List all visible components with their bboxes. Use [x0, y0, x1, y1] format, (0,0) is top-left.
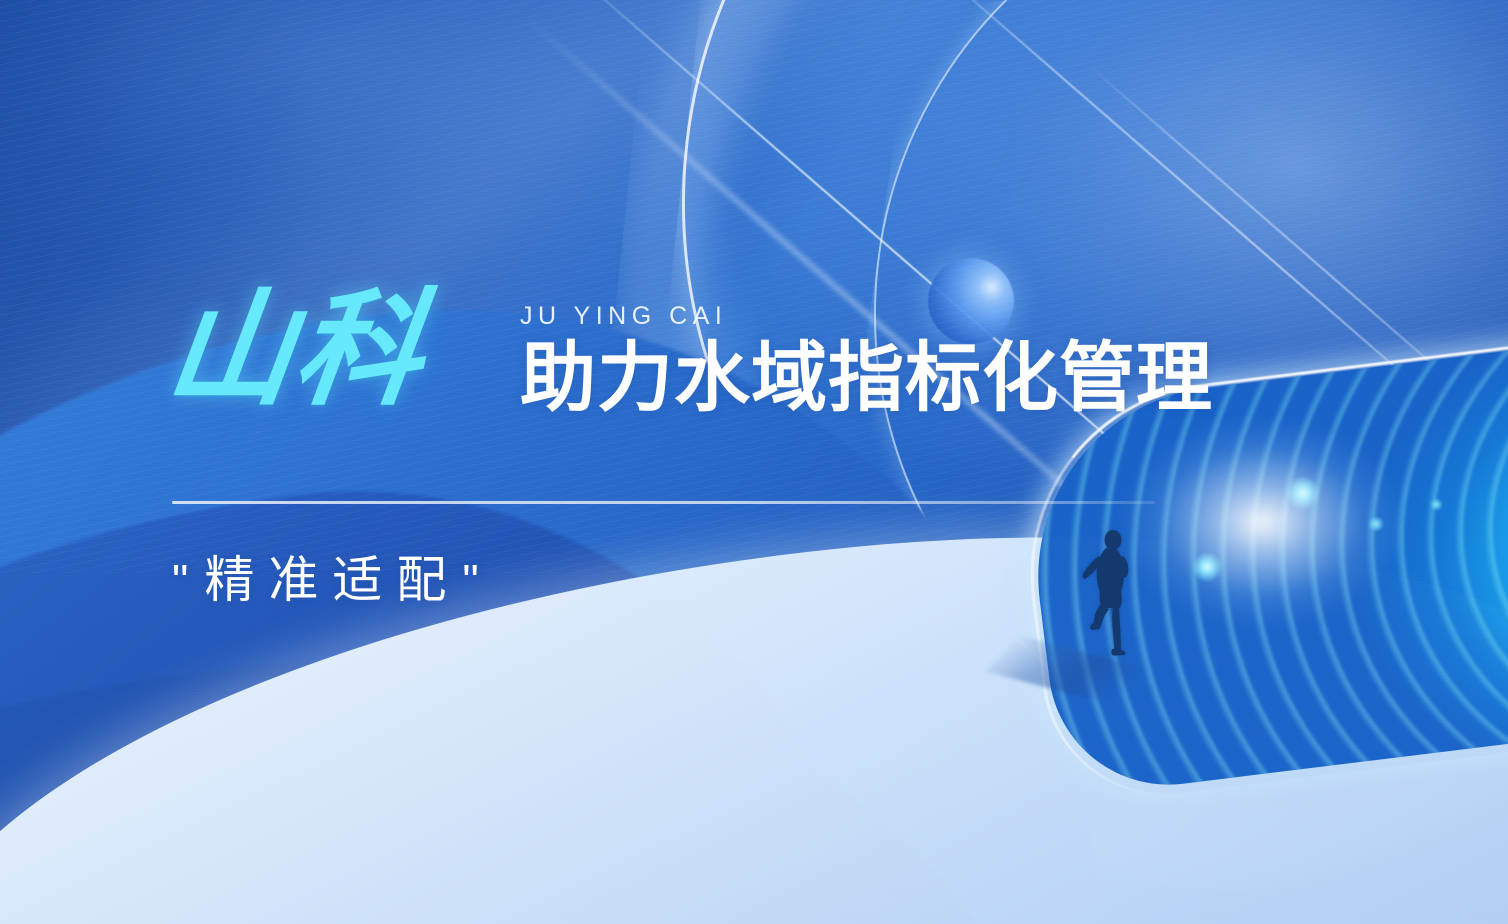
- promotional-banner: 山科 JU YING CAI 助力水域指标化管理 "精准适配": [0, 0, 1508, 924]
- divider-line: [172, 501, 1155, 504]
- brand-row: 山科: [168, 296, 424, 404]
- tagline-close-quote: ": [460, 555, 494, 607]
- banner-content: 山科 JU YING CAI 助力水域指标化管理 "精准适配": [0, 0, 1508, 924]
- pinyin-label: JU YING CAI: [520, 302, 1213, 331]
- brand-mark: 山科: [161, 296, 430, 404]
- tagline-text: 精准适配: [204, 552, 460, 608]
- tagline: "精准适配": [170, 540, 495, 612]
- tagline-open-quote: ": [170, 555, 204, 607]
- headline-block: JU YING CAI 助力水域指标化管理: [520, 302, 1213, 417]
- headline-text: 助力水域指标化管理: [520, 341, 1213, 417]
